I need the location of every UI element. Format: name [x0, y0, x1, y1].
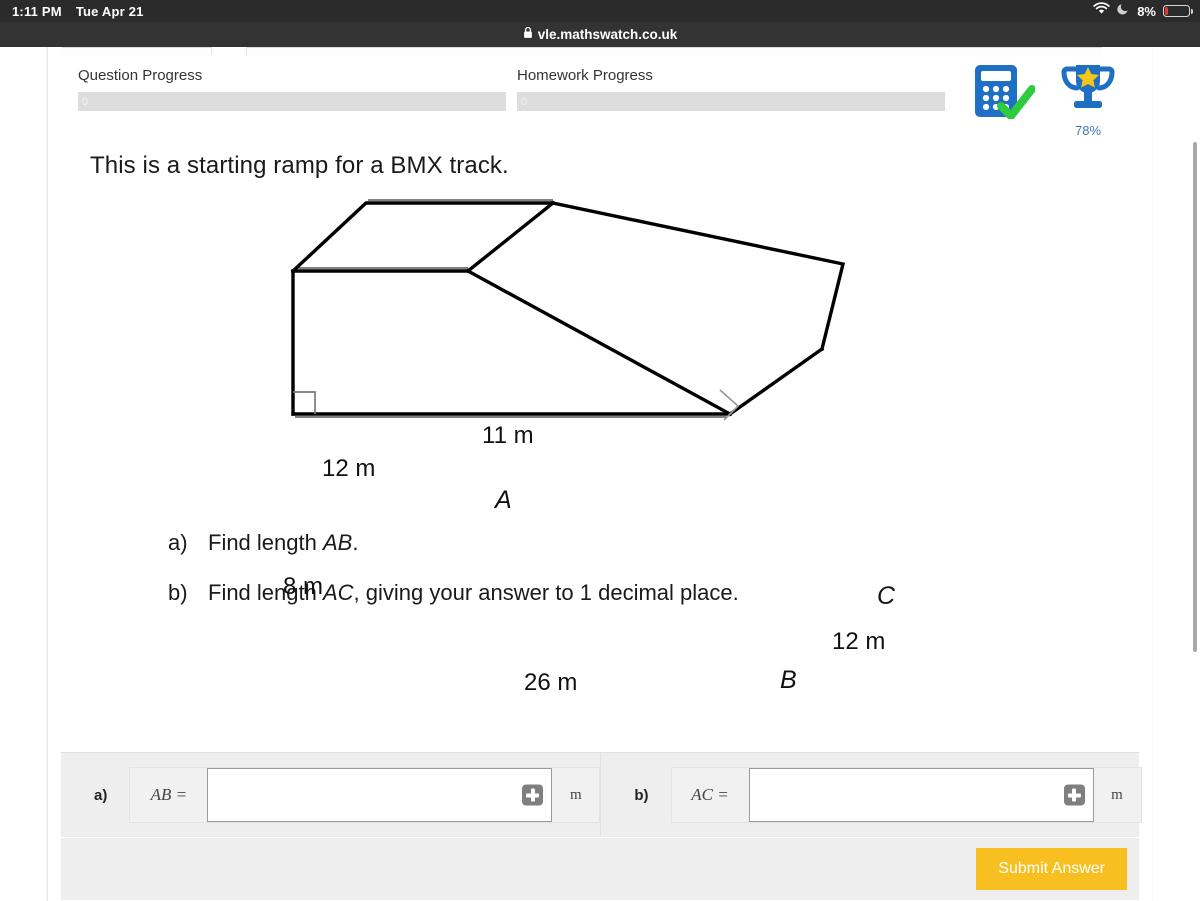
answer-b-letter: b) [634, 787, 648, 804]
answer-b-unit: m [1094, 768, 1141, 822]
wifi-icon [1093, 2, 1110, 20]
answer-a-lhs: AB = [130, 768, 207, 822]
answer-b-lhs: AC = [672, 768, 749, 822]
question-progress: Question Progress 0 [78, 67, 506, 111]
trophy-icon [1059, 63, 1117, 122]
status-time: 1:11 PM [12, 4, 62, 19]
answer-cell-a: a) AB = m [61, 753, 600, 837]
question-progress-bar: 0 [78, 92, 506, 111]
page-scrollbar[interactable] [1190, 47, 1200, 901]
label-26m: 26 m [524, 669, 577, 697]
question-part-a: a) Find length AB. [168, 530, 1152, 556]
answer-a-input[interactable] [207, 768, 552, 822]
homework-progress-value: 0 [517, 96, 527, 108]
lock-icon [523, 26, 533, 44]
question-parts: a) Find length AB. b) Find length AC, gi… [48, 530, 1152, 606]
ios-status-bar: 1:11 PM Tue Apr 21 8% [0, 0, 1200, 22]
status-date: Tue Apr 21 [76, 4, 144, 19]
screen: 1:11 PM Tue Apr 21 8% [0, 0, 1200, 901]
url-text: vle.mathswatch.co.uk [538, 27, 678, 42]
tab-second[interactable] [246, 47, 1102, 55]
answer-panel: a) AB = m b) AC = m [61, 752, 1139, 837]
moon-icon [1117, 2, 1130, 20]
question-body: This is a starting ramp for a BMX track. [48, 152, 1152, 630]
status-bar-left: 1:11 PM Tue Apr 21 [0, 4, 144, 19]
page-viewport: Question Progress 0 Homework Progress 0 [48, 47, 1152, 901]
ramp-diagram-svg [48, 194, 1152, 514]
homework-progress-label: Homework Progress [517, 67, 945, 84]
right-angle-marker-base [293, 392, 315, 414]
battery-percent: 8% [1137, 4, 1156, 19]
calculator-icon [973, 63, 1035, 124]
label-12m-depth: 12 m [322, 455, 375, 483]
label-vertex-b: B [780, 666, 797, 695]
answer-cell-b: b) AC = m [600, 753, 1141, 837]
answer-b-input[interactable] [749, 768, 1094, 822]
tab-strip [48, 47, 1152, 55]
label-8m: 8 m [283, 573, 323, 601]
plus-icon[interactable] [522, 785, 543, 806]
plus-icon[interactable] [1064, 785, 1085, 806]
question-progress-value: 0 [78, 96, 88, 108]
part-a-text: Find length AB. [208, 530, 358, 556]
submit-answer-button[interactable]: Submit Answer [976, 848, 1127, 890]
answer-a-unit: m [552, 768, 599, 822]
calculator-badge[interactable] [973, 63, 1035, 124]
part-b-math: AC [323, 580, 354, 605]
question-progress-label: Question Progress [78, 67, 506, 84]
scrollbar-thumb[interactable] [1193, 142, 1197, 652]
question-intro: This is a starting ramp for a BMX track. [48, 152, 1152, 180]
homework-progress-bar: 0 [517, 92, 945, 111]
battery-icon [1163, 5, 1190, 17]
status-bar-right: 8% [1093, 2, 1200, 20]
label-11m: 11 m [482, 422, 534, 450]
answer-a-letter: a) [94, 787, 107, 804]
badges: 78% [973, 63, 1117, 138]
label-vertex-a: A [495, 486, 512, 515]
label-12m-width: 12 m [832, 628, 885, 656]
part-a-math: AB [323, 530, 352, 555]
ramp-diagram: 11 m 12 m 8 m 26 m 12 m A B C [48, 194, 1152, 514]
answer-b-box: AC = m [671, 767, 1142, 823]
label-vertex-c: C [877, 582, 895, 611]
homework-progress: Homework Progress 0 [517, 67, 945, 111]
safari-url-bar[interactable]: vle.mathswatch.co.uk [0, 22, 1200, 47]
trophy-badge[interactable]: 78% [1059, 63, 1117, 138]
trophy-percent: 78% [1075, 123, 1101, 138]
part-a-marker: a) [168, 530, 194, 556]
answer-a-box: AB = m [129, 767, 600, 823]
tab-first[interactable] [62, 47, 212, 55]
part-b-marker: b) [168, 580, 194, 606]
submit-row: Submit Answer [61, 838, 1139, 900]
